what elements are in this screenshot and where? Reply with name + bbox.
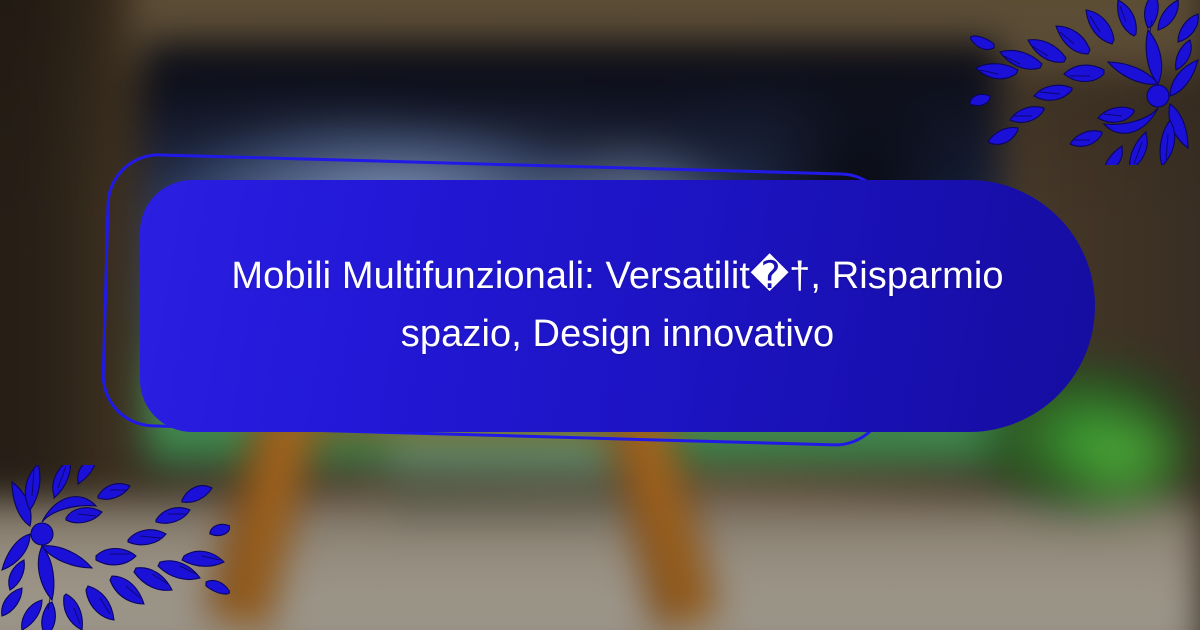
page-title: Mobili Multifunzionali: Versatilit�†, Ri… [175,248,1059,364]
title-plate: Mobili Multifunzionali: Versatilit�†, Ri… [140,180,1095,432]
share-card: Mobili Multifunzionali: Versatilit�†, Ri… [0,0,1200,630]
